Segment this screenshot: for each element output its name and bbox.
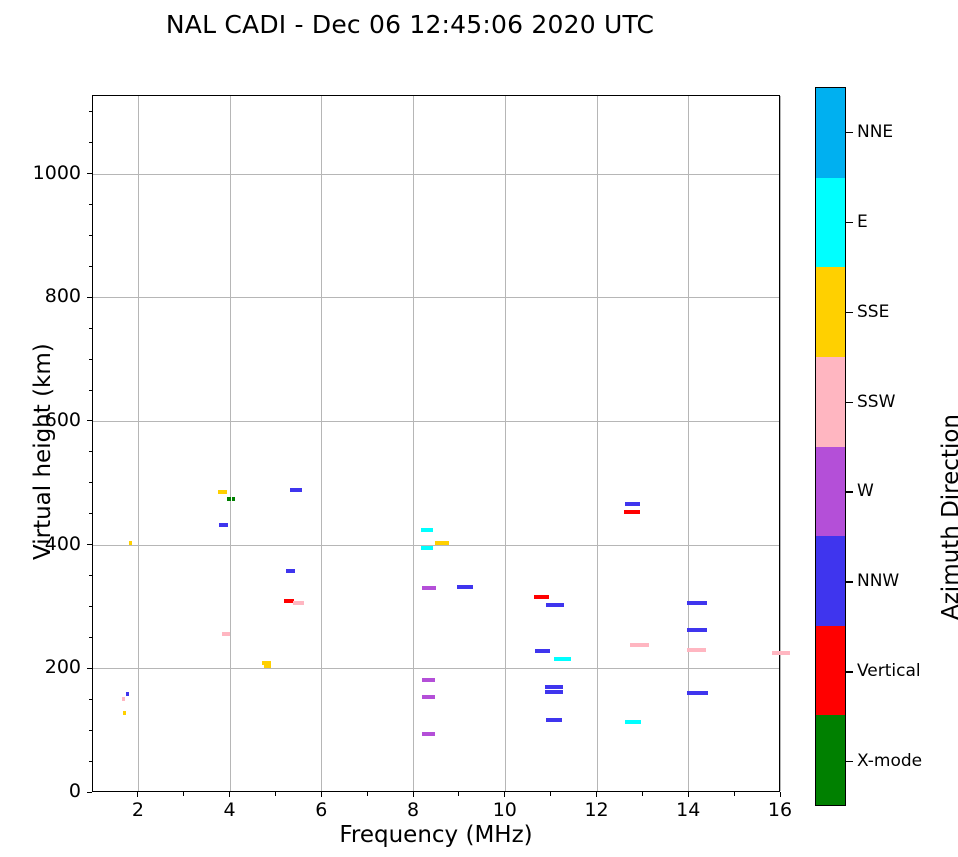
colorbar-tick-label-w: W [857, 481, 874, 501]
data-point [546, 718, 562, 722]
colorbar-segment-x-mode [816, 715, 845, 805]
y-tick-minor [89, 575, 93, 576]
colorbar-segment-nnw [816, 536, 845, 626]
data-point [422, 732, 435, 736]
x-tick-major [504, 792, 505, 797]
y-tick-minor [89, 513, 93, 514]
y-tick-minor [89, 606, 93, 607]
y-tick-label: 200 [0, 656, 81, 678]
data-point [421, 528, 433, 532]
x-tick-minor [183, 792, 184, 796]
x-tick-minor [458, 792, 459, 796]
x-tick-label: 14 [658, 799, 718, 821]
colorbar-segment-sse [816, 267, 845, 357]
colorbar-tick [846, 491, 853, 492]
gridline-horizontal [93, 174, 779, 175]
y-tick-major [87, 297, 92, 298]
y-tick-minor [89, 482, 93, 483]
gridline-horizontal [93, 421, 779, 422]
gridline-vertical [597, 96, 598, 791]
data-point [545, 685, 562, 689]
y-tick-minor [89, 266, 93, 267]
ionogram-figure: NAL CADI - Dec 06 12:45:06 2020 UTC 2468… [0, 0, 958, 857]
colorbar-tick [846, 222, 853, 223]
data-point [625, 502, 641, 506]
y-tick-minor [89, 699, 93, 700]
y-axis-label: Virtual height (km) [30, 343, 56, 560]
data-point [545, 690, 562, 694]
y-tick-label: 1000 [0, 162, 81, 184]
data-point [554, 657, 571, 661]
x-tick-label: 2 [108, 799, 168, 821]
azimuth-colorbar [815, 87, 846, 806]
y-tick-minor [89, 328, 93, 329]
y-tick-minor [89, 359, 93, 360]
data-point [218, 490, 227, 494]
data-point [293, 601, 304, 605]
data-point [232, 497, 235, 501]
x-tick-major [413, 792, 414, 797]
colorbar-tick [846, 671, 853, 672]
data-point [687, 691, 707, 695]
data-point [546, 603, 563, 607]
data-point [290, 488, 302, 492]
data-point [687, 648, 706, 652]
data-point [422, 678, 435, 682]
data-point [123, 711, 126, 715]
data-point [624, 510, 641, 514]
data-point [687, 628, 706, 632]
y-tick-label: 0 [0, 780, 81, 802]
x-tick-minor [642, 792, 643, 796]
colorbar-segment-w [816, 447, 845, 537]
y-tick-label: 800 [0, 285, 81, 307]
colorbar-tick [846, 402, 853, 403]
gridline-vertical [230, 96, 231, 791]
gridline-vertical [505, 96, 506, 791]
data-point [435, 541, 450, 545]
data-point [630, 643, 649, 647]
x-tick-label: 16 [750, 799, 810, 821]
colorbar-tick [846, 312, 853, 313]
data-point [625, 720, 641, 724]
y-tick-major [87, 544, 92, 545]
colorbar-segment-e [816, 178, 845, 268]
y-tick-minor [89, 111, 93, 112]
x-tick-major [596, 792, 597, 797]
x-tick-minor [734, 792, 735, 796]
chart-title: NAL CADI - Dec 06 12:45:06 2020 UTC [0, 10, 820, 39]
data-point [772, 651, 790, 655]
data-point [534, 595, 549, 599]
x-tick-label: 4 [200, 799, 260, 821]
x-tick-label: 12 [567, 799, 627, 821]
colorbar-tick-label-nne: NNE [857, 122, 893, 142]
y-tick-minor [89, 761, 93, 762]
colorbar-tick [846, 132, 853, 133]
colorbar-label: Azimuth Direction [938, 414, 958, 620]
data-point [222, 632, 229, 636]
data-point [264, 664, 271, 668]
data-point [227, 497, 231, 501]
gridline-vertical [138, 96, 139, 791]
data-point [422, 695, 435, 699]
data-point [687, 601, 706, 605]
colorbar-segment-nne [816, 88, 845, 178]
colorbar-tick-label-ssw: SSW [857, 392, 895, 412]
colorbar-tick [846, 581, 853, 582]
x-tick-minor [367, 792, 368, 796]
x-tick-major [229, 792, 230, 797]
data-point [422, 586, 436, 590]
x-tick-major [688, 792, 689, 797]
plot-area [92, 95, 780, 792]
y-tick-major [87, 668, 92, 669]
data-point [122, 697, 125, 701]
data-point [126, 692, 129, 696]
data-point [421, 546, 433, 550]
data-point [535, 649, 551, 653]
gridline-vertical [413, 96, 414, 791]
colorbar-tick [846, 761, 853, 762]
gridline-horizontal [93, 297, 779, 298]
colorbar-tick-label-vertical: Vertical [857, 661, 921, 681]
colorbar-segment-vertical [816, 626, 845, 716]
y-tick-major [87, 792, 92, 793]
y-tick-minor [89, 390, 93, 391]
gridline-vertical [321, 96, 322, 791]
data-point [457, 585, 473, 589]
data-point [286, 569, 296, 573]
x-tick-label: 6 [291, 799, 351, 821]
y-tick-minor [89, 142, 93, 143]
y-tick-major [87, 173, 92, 174]
y-tick-minor [89, 730, 93, 731]
x-tick-major [780, 792, 781, 797]
gridline-horizontal [93, 668, 779, 669]
x-tick-minor [550, 792, 551, 796]
x-tick-label: 8 [383, 799, 443, 821]
gridline-vertical [688, 96, 689, 791]
y-tick-major [87, 420, 92, 421]
y-tick-minor [89, 451, 93, 452]
colorbar-segment-ssw [816, 357, 845, 447]
gridline-vertical [780, 96, 781, 791]
x-tick-label: 10 [475, 799, 535, 821]
x-tick-minor [275, 792, 276, 796]
data-point [129, 541, 132, 545]
data-point [219, 523, 228, 527]
colorbar-tick-label-e: E [857, 212, 868, 232]
x-tick-major [137, 792, 138, 797]
colorbar-tick-label-nnw: NNW [857, 571, 899, 591]
colorbar-tick-label-sse: SSE [857, 302, 889, 322]
x-tick-major [321, 792, 322, 797]
y-tick-minor [89, 204, 93, 205]
colorbar-tick-label-x-mode: X-mode [857, 751, 922, 771]
x-axis-label: Frequency (MHz) [92, 822, 780, 848]
y-tick-minor [89, 637, 93, 638]
y-tick-minor [89, 235, 93, 236]
